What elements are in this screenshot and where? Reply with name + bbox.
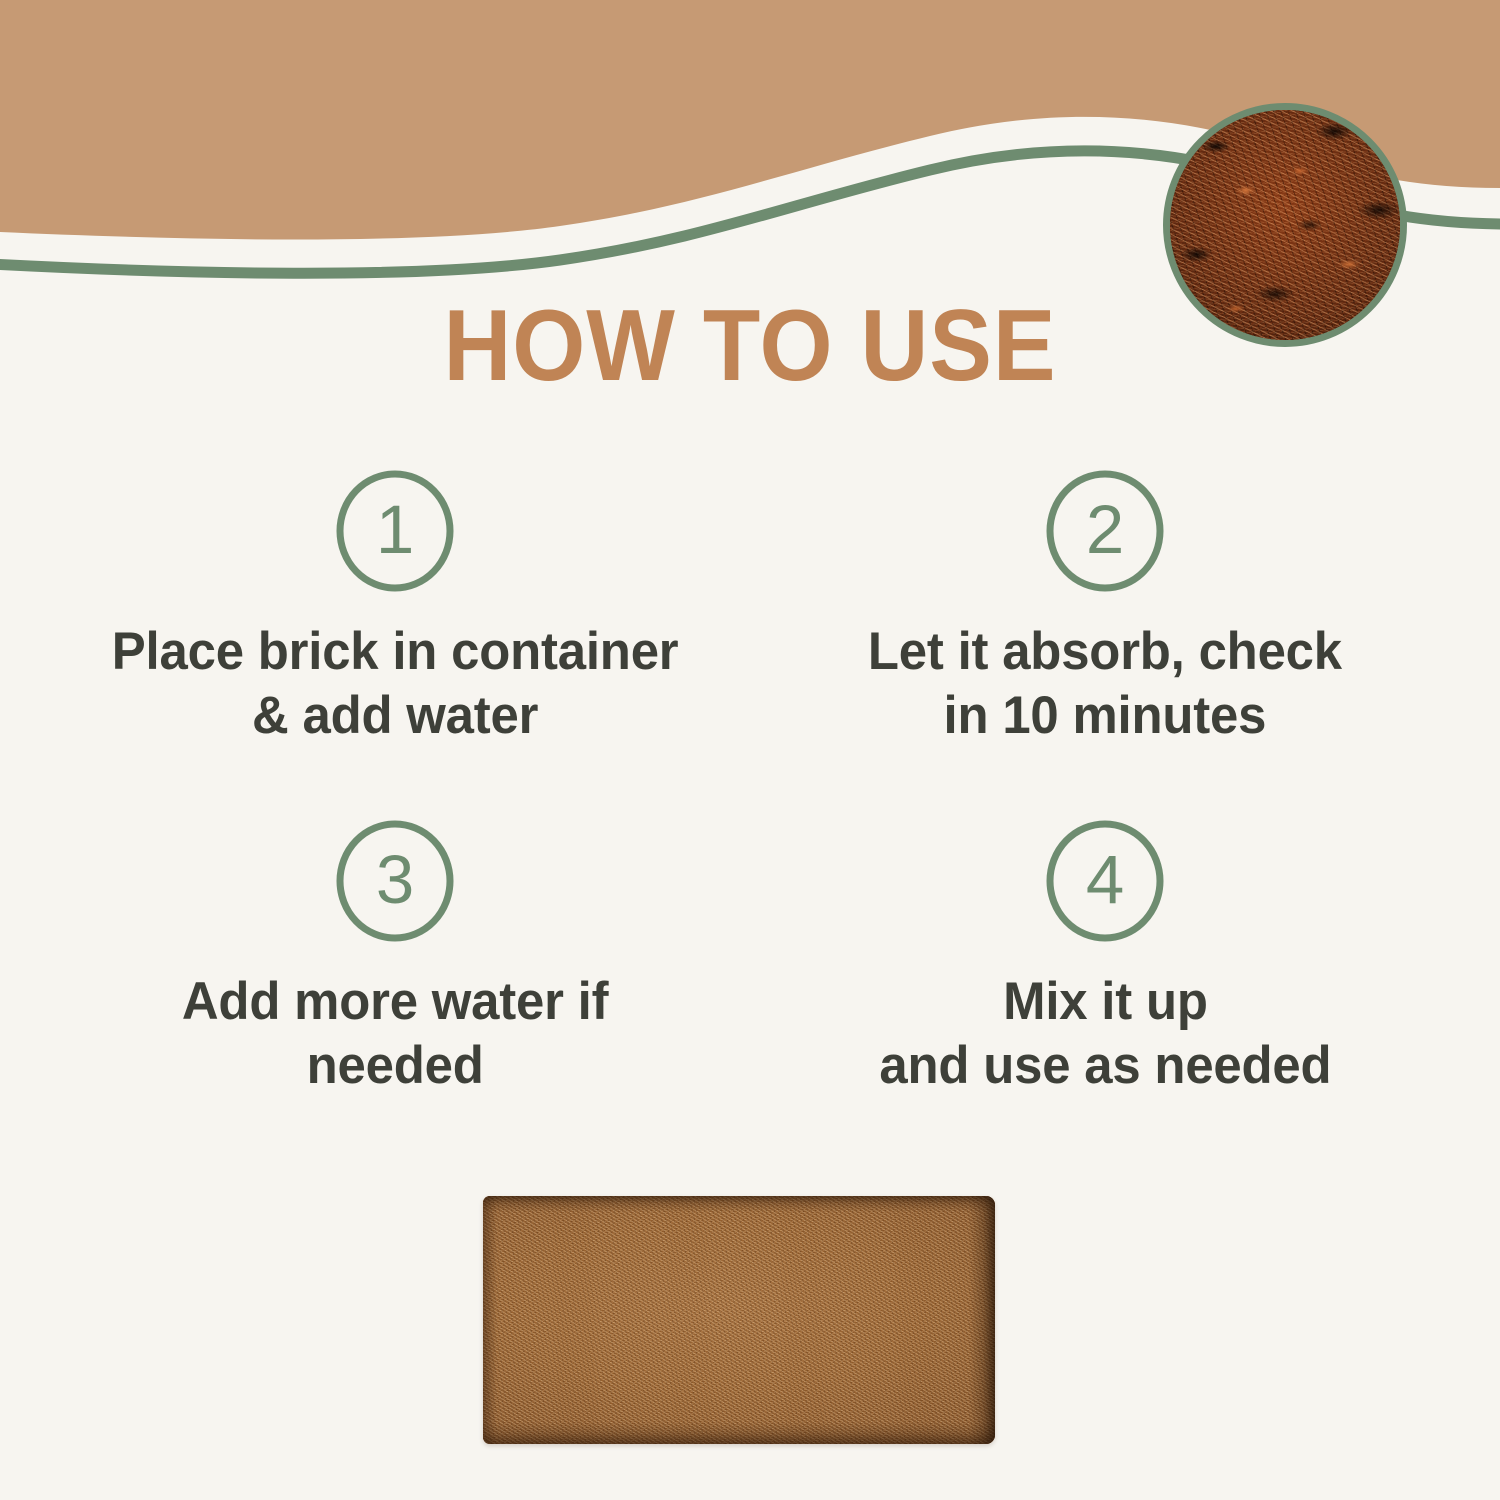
step-number-badge-1: 1: [334, 470, 456, 592]
brick-edge-top: [483, 1196, 995, 1212]
steps-grid: 1 Place brick in container & add water 2…: [40, 470, 1460, 1098]
step-item-2: 2 Let it absorb, check in 10 minutes: [750, 470, 1460, 820]
step-item-3: 3 Add more water if needed: [40, 820, 750, 1098]
step-number-badge-3: 3: [334, 820, 456, 942]
step-number-2: 2: [1086, 495, 1124, 564]
step-caption-1: Place brick in container & add water: [112, 620, 679, 748]
step-number-badge-2: 2: [1044, 470, 1166, 592]
how-to-use-infographic: HOW TO USE 1 Place brick in container & …: [0, 0, 1500, 1500]
step-caption-3: Add more water if needed: [182, 970, 608, 1098]
step-number-badge-4: 4: [1044, 820, 1166, 942]
step-number-4: 4: [1086, 845, 1124, 914]
coir-brick-photo: [483, 1196, 995, 1444]
step-caption-4: Mix it up and use as needed: [879, 970, 1331, 1098]
step-number-3: 3: [376, 845, 414, 914]
step-number-1: 1: [376, 495, 414, 564]
brick-edge-left: [483, 1196, 497, 1444]
step-item-4: 4 Mix it up and use as needed: [750, 820, 1460, 1098]
brick-edge-right: [969, 1196, 995, 1444]
step-caption-2: Let it absorb, check in 10 minutes: [868, 620, 1342, 748]
brick-texture: [483, 1196, 995, 1444]
page-title: HOW TO USE: [53, 293, 1448, 399]
brick-edge-bottom: [483, 1422, 995, 1444]
step-item-1: 1 Place brick in container & add water: [40, 470, 750, 820]
